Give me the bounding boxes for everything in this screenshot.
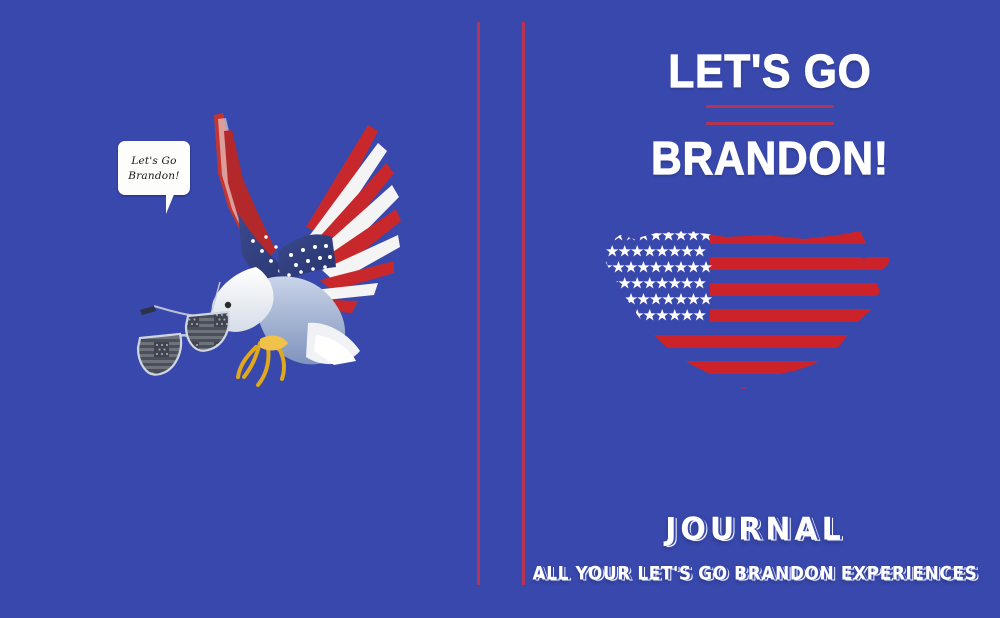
headline-divider-bottom <box>706 122 834 125</box>
speech-bubble-line-2: Brandon! <box>128 171 179 182</box>
bottom-title-block: JOURNAL ALL YOUR LET'S GO BRANDON EXPERI… <box>520 512 990 584</box>
map-canton <box>598 225 710 323</box>
usa-flag-map <box>598 225 910 397</box>
sunglasses-illustration <box>124 282 244 387</box>
spine-rule-left <box>477 22 480 585</box>
headline-line-1: LET'S GO <box>577 48 963 94</box>
journal-tagline: ALL YOUR LET'S GO BRANDON EXPERIENCES <box>527 563 983 585</box>
sunglasses-string <box>210 282 220 316</box>
cover-canvas: Let's Go Brandon! <box>0 0 1000 618</box>
spine-rule-right <box>522 22 525 585</box>
headline-block: LET'S GO BRANDON! <box>560 48 980 181</box>
headline-line-2: BRANDON! <box>577 135 963 181</box>
speech-bubble-text: Let's Go Brandon! <box>118 142 190 196</box>
map-flag-fill <box>598 225 910 397</box>
journal-title: JOURNAL <box>520 511 990 548</box>
sunglasses-lens-left <box>138 334 181 375</box>
sunglasses-lens-right <box>186 312 229 351</box>
headline-divider-top <box>706 105 834 108</box>
speech-bubble-line-1: Let's Go <box>131 156 176 167</box>
headline-divider-group <box>706 105 834 125</box>
